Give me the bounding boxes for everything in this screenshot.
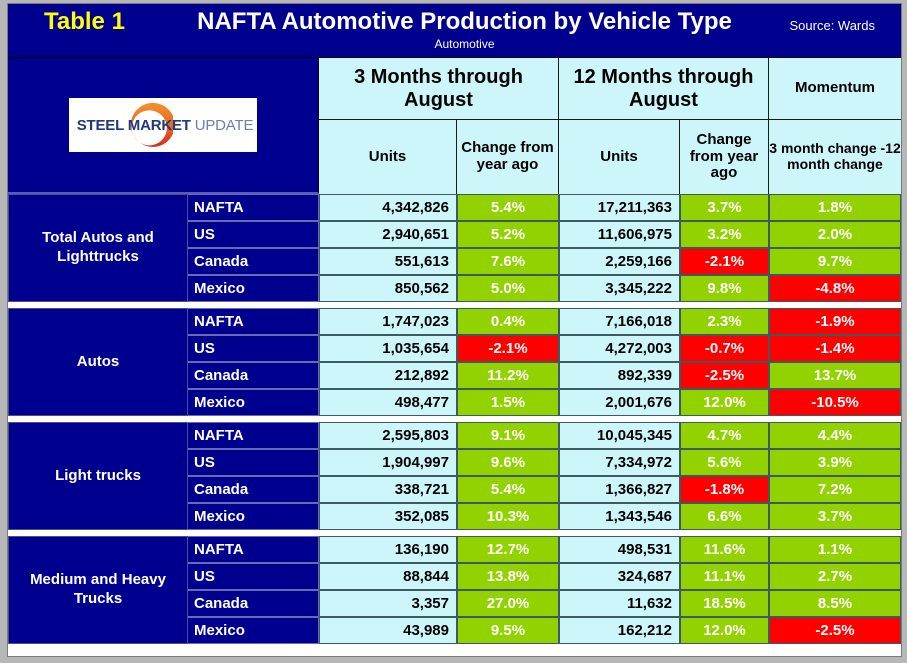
table-block: Total Autos and LighttrucksNAFTA4,342,82…: [8, 194, 901, 302]
header-subcolumn-row: Units Change from year ago Units Change …: [319, 120, 901, 194]
table-row: Canada551,6137.6%2,259,166-2.1%9.7%: [188, 248, 901, 275]
table-block: Medium and Heavy TrucksNAFTA136,19012.7%…: [8, 536, 901, 644]
cell-units-3mo: 1,035,654: [319, 335, 457, 362]
cell-units-3mo: 4,342,826: [319, 194, 457, 221]
cell-units-12mo: 4,272,003: [559, 335, 680, 362]
cell-units-12mo: 162,212: [559, 617, 680, 644]
title-bar: Table 1 NAFTA Automotive Production by V…: [8, 4, 901, 58]
block-label: Medium and Heavy Trucks: [8, 536, 188, 644]
cell-change-3mo: 27.0%: [457, 590, 559, 617]
cell-momentum: 8.5%: [769, 590, 901, 617]
cell-change-12mo: -2.5%: [680, 362, 769, 389]
table-body: Total Autos and LighttrucksNAFTA4,342,82…: [8, 194, 901, 656]
row-country-label: Canada: [188, 590, 319, 617]
cell-units-12mo: 498,531: [559, 536, 680, 563]
cell-change-3mo: 12.7%: [457, 536, 559, 563]
cell-change-3mo: 1.5%: [457, 389, 559, 416]
cell-momentum: 2.7%: [769, 563, 901, 590]
cell-momentum: 3.7%: [769, 503, 901, 530]
cell-momentum: -2.5%: [769, 617, 901, 644]
cell-units-12mo: 2,001,676: [559, 389, 680, 416]
row-country-label: Mexico: [188, 503, 319, 530]
cell-units-3mo: 3,357: [319, 590, 457, 617]
cell-units-3mo: 498,477: [319, 389, 457, 416]
cell-change-12mo: 3.2%: [680, 221, 769, 248]
cell-change-3mo: 13.8%: [457, 563, 559, 590]
cell-momentum: -1.9%: [769, 308, 901, 335]
row-country-label: US: [188, 335, 319, 362]
row-country-label: NAFTA: [188, 536, 319, 563]
cell-change-12mo: 6.6%: [680, 503, 769, 530]
cell-units-3mo: 2,595,803: [319, 422, 457, 449]
cell-change-12mo: -1.8%: [680, 476, 769, 503]
cell-units-12mo: 3,345,222: [559, 275, 680, 302]
screenshot-root: Table 1 NAFTA Automotive Production by V…: [0, 0, 907, 663]
cell-change-3mo: 9.6%: [457, 449, 559, 476]
cell-units-3mo: 212,892: [319, 362, 457, 389]
cell-units-12mo: 11,606,975: [559, 221, 680, 248]
cell-units-3mo: 551,613: [319, 248, 457, 275]
cell-units-12mo: 10,045,345: [559, 422, 680, 449]
cell-change-3mo: -2.1%: [457, 335, 559, 362]
cell-change-3mo: 7.6%: [457, 248, 559, 275]
steel-market-update-logo: STEEL MARKET UPDATE: [69, 98, 257, 152]
cell-change-3mo: 10.3%: [457, 503, 559, 530]
cell-units-3mo: 2,940,651: [319, 221, 457, 248]
row-country-label: NAFTA: [188, 308, 319, 335]
block-rows: NAFTA1,747,0230.4%7,166,0182.3%-1.9%US1,…: [188, 308, 901, 416]
block-rows: NAFTA4,342,8265.4%17,211,3633.7%1.8%US2,…: [188, 194, 901, 302]
cell-change-3mo: 5.4%: [457, 476, 559, 503]
cell-units-12mo: 11,632: [559, 590, 680, 617]
cell-units-12mo: 892,339: [559, 362, 680, 389]
table-block: AutosNAFTA1,747,0230.4%7,166,0182.3%-1.9…: [8, 308, 901, 416]
header-group-row: 3 Months through August 12 Months throug…: [319, 58, 901, 120]
header-momentum-detail: 3 month change -12 month change: [769, 120, 901, 194]
cell-change-12mo: 4.7%: [680, 422, 769, 449]
row-country-label: NAFTA: [188, 194, 319, 221]
table-row: US1,904,9979.6%7,334,9725.6%3.9%: [188, 449, 901, 476]
cell-change-3mo: 11.2%: [457, 362, 559, 389]
subtitle-label: Automotive: [8, 37, 901, 51]
logo-word-market: MARKET: [124, 117, 191, 134]
cell-units-3mo: 88,844: [319, 563, 457, 590]
block-label: Light trucks: [8, 422, 188, 530]
cell-momentum: 7.2%: [769, 476, 901, 503]
block-rows: NAFTA136,19012.7%498,53111.6%1.1%US88,84…: [188, 536, 901, 644]
table-row: Mexico352,08510.3%1,343,5466.6%3.7%: [188, 503, 901, 530]
row-country-label: Canada: [188, 476, 319, 503]
cell-change-12mo: 11.6%: [680, 536, 769, 563]
cell-momentum: 4.4%: [769, 422, 901, 449]
table-row: NAFTA1,747,0230.4%7,166,0182.3%-1.9%: [188, 308, 901, 335]
cell-units-12mo: 7,166,018: [559, 308, 680, 335]
header-units-3mo: Units: [319, 120, 457, 194]
table-row: Mexico498,4771.5%2,001,67612.0%-10.5%: [188, 389, 901, 416]
cell-units-3mo: 136,190: [319, 536, 457, 563]
row-country-label: NAFTA: [188, 422, 319, 449]
cell-change-3mo: 0.4%: [457, 308, 559, 335]
cell-change-3mo: 9.5%: [457, 617, 559, 644]
cell-momentum: 13.7%: [769, 362, 901, 389]
cell-momentum: 9.7%: [769, 248, 901, 275]
cell-change-12mo: 3.7%: [680, 194, 769, 221]
cell-change-3mo: 5.0%: [457, 275, 559, 302]
cell-momentum: -1.4%: [769, 335, 901, 362]
cell-change-12mo: -2.1%: [680, 248, 769, 275]
cell-units-3mo: 352,085: [319, 503, 457, 530]
table-row: Canada212,89211.2%892,339-2.5%13.7%: [188, 362, 901, 389]
cell-units-12mo: 7,334,972: [559, 449, 680, 476]
cell-momentum: 3.9%: [769, 449, 901, 476]
cell-change-12mo: 5.6%: [680, 449, 769, 476]
header-change-3mo: Change from year ago: [457, 120, 559, 194]
cell-change-3mo: 5.4%: [457, 194, 559, 221]
cell-momentum: 2.0%: [769, 221, 901, 248]
logo-word-update: UPDATE: [191, 117, 254, 134]
source-label: Source: Wards: [790, 18, 876, 33]
cell-units-12mo: 1,366,827: [559, 476, 680, 503]
cell-change-12mo: 12.0%: [680, 389, 769, 416]
cell-change-12mo: 2.3%: [680, 308, 769, 335]
logo-wordmark: STEEL MARKET UPDATE: [73, 117, 254, 134]
table-row: Canada3,35727.0%11,63218.5%8.5%: [188, 590, 901, 617]
cell-units-3mo: 850,562: [319, 275, 457, 302]
cell-change-12mo: -0.7%: [680, 335, 769, 362]
table-row: NAFTA136,19012.7%498,53111.6%1.1%: [188, 536, 901, 563]
table-row: NAFTA4,342,8265.4%17,211,3633.7%1.8%: [188, 194, 901, 221]
cell-momentum: 1.1%: [769, 536, 901, 563]
page-title: NAFTA Automotive Production by Vehicle T…: [8, 8, 901, 36]
table-row: Mexico43,9899.5%162,21212.0%-2.5%: [188, 617, 901, 644]
cell-units-12mo: 2,259,166: [559, 248, 680, 275]
table-row: US2,940,6515.2%11,606,9753.2%2.0%: [188, 221, 901, 248]
cell-momentum: -10.5%: [769, 389, 901, 416]
block-label: Total Autos and Lighttrucks: [8, 194, 188, 302]
cell-units-3mo: 43,989: [319, 617, 457, 644]
cell-change-12mo: 12.0%: [680, 617, 769, 644]
row-country-label: Mexico: [188, 275, 319, 302]
cell-units-3mo: 1,904,997: [319, 449, 457, 476]
row-country-label: Mexico: [188, 389, 319, 416]
table-row: US88,84413.8%324,68711.1%2.7%: [188, 563, 901, 590]
cell-momentum: 1.8%: [769, 194, 901, 221]
cell-change-3mo: 5.2%: [457, 221, 559, 248]
row-country-label: US: [188, 449, 319, 476]
cell-change-12mo: 9.8%: [680, 275, 769, 302]
table-row: Canada338,7215.4%1,366,827-1.8%7.2%: [188, 476, 901, 503]
header-change-12mo: Change from year ago: [680, 120, 769, 194]
block-label: Autos: [8, 308, 188, 416]
row-country-label: Canada: [188, 248, 319, 275]
row-country-label: US: [188, 563, 319, 590]
row-country-label: Canada: [188, 362, 319, 389]
cell-change-12mo: 18.5%: [680, 590, 769, 617]
table-row: Mexico850,5625.0%3,345,2229.8%-4.8%: [188, 275, 901, 302]
cell-units-3mo: 338,721: [319, 476, 457, 503]
cell-change-3mo: 9.1%: [457, 422, 559, 449]
logo-cell: STEEL MARKET UPDATE: [8, 58, 319, 194]
cell-units-12mo: 1,343,546: [559, 503, 680, 530]
table-block: Light trucksNAFTA2,595,8039.1%10,045,345…: [8, 422, 901, 530]
cell-units-12mo: 17,211,363: [559, 194, 680, 221]
header-group-momentum: Momentum: [769, 58, 901, 120]
cell-momentum: -4.8%: [769, 275, 901, 302]
table-header-band: STEEL MARKET UPDATE 3 Months through Aug…: [8, 58, 901, 194]
row-country-label: US: [188, 221, 319, 248]
header-group-3-months: 3 Months through August: [319, 58, 559, 120]
row-country-label: Mexico: [188, 617, 319, 644]
cell-units-3mo: 1,747,023: [319, 308, 457, 335]
cell-change-12mo: 11.1%: [680, 563, 769, 590]
cell-units-12mo: 324,687: [559, 563, 680, 590]
table-row: US1,035,654-2.1%4,272,003-0.7%-1.4%: [188, 335, 901, 362]
logo-word-steel: STEEL: [77, 117, 124, 134]
header-units-12mo: Units: [559, 120, 680, 194]
header-group-12-months: 12 Months through August: [559, 58, 769, 120]
block-rows: NAFTA2,595,8039.1%10,045,3454.7%4.4%US1,…: [188, 422, 901, 530]
table-row: NAFTA2,595,8039.1%10,045,3454.7%4.4%: [188, 422, 901, 449]
header-columns: 3 Months through August 12 Months throug…: [319, 58, 901, 194]
table-frame: Table 1 NAFTA Automotive Production by V…: [7, 3, 902, 657]
